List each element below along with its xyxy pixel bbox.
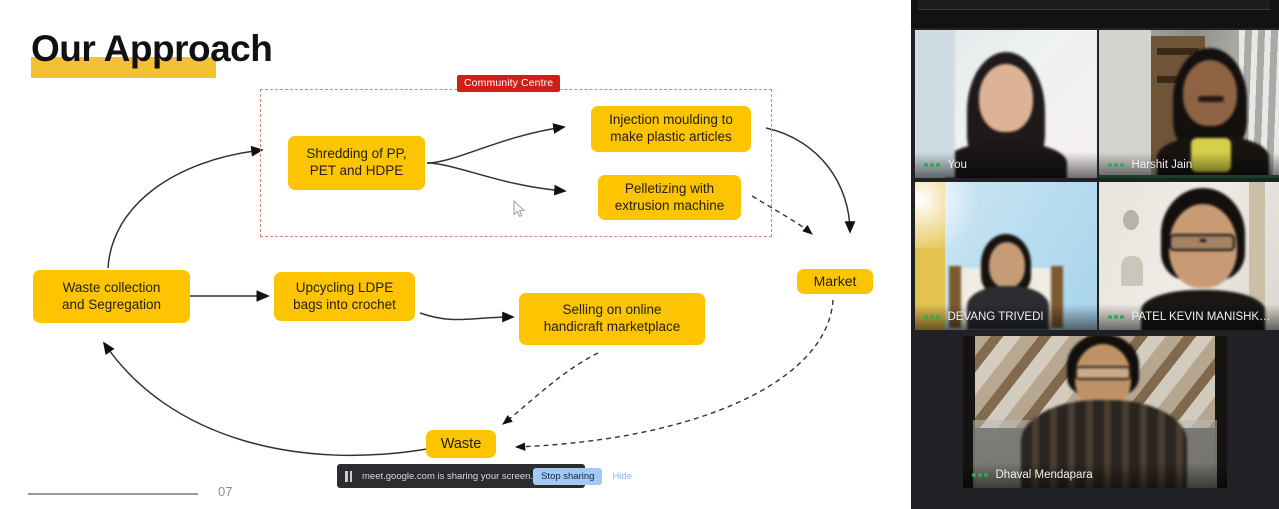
node-waste[interactable]: Waste [426, 430, 496, 458]
mouse-cursor-icon [513, 200, 526, 218]
node-line: and Segregation [62, 297, 161, 314]
node-line: Upcycling LDPE [293, 280, 396, 297]
node-line: extrusion machine [615, 198, 725, 215]
node-shredding[interactable]: Shredding of PP, PET and HDPE [288, 136, 425, 190]
node-line: PET and HDPE [306, 163, 406, 180]
audio-activity-icon [924, 163, 940, 167]
node-upcycling-ldpe[interactable]: Upcycling LDPE bags into crochet [274, 272, 415, 321]
node-line: bags into crochet [293, 297, 396, 314]
participant-namebar: PATEL KEVIN MANISHK… [1099, 304, 1279, 330]
participant-tile-you[interactable]: You [915, 30, 1097, 178]
participant-tile-harshit-jain[interactable]: Harshit Jain [1099, 30, 1279, 178]
participant-tile-dhaval-mendapara[interactable]: Dhaval Mendapara [963, 336, 1227, 488]
meeting-participants-panel: You Harshit Jain [911, 0, 1279, 509]
participant-namebar: You [915, 152, 1097, 178]
node-line: Market [814, 273, 857, 291]
node-line: Injection moulding to [609, 112, 733, 129]
hide-button[interactable]: Hide [612, 471, 632, 482]
screen-share-bar[interactable]: meet.google.com is sharing your screen. … [337, 464, 585, 488]
participant-name: Harshit Jain [1132, 159, 1193, 171]
page-title: Our Approach [31, 30, 272, 67]
node-line: Selling on online [544, 302, 681, 319]
participant-namebar: DEVANG TRIVEDI [915, 304, 1097, 330]
participant-name: You [948, 159, 967, 171]
node-market[interactable]: Market [797, 269, 873, 294]
node-waste-collection[interactable]: Waste collection and Segregation [33, 270, 190, 323]
participant-name: DEVANG TRIVEDI [948, 311, 1044, 323]
participant-tile-devang-trivedi[interactable]: DEVANG TRIVEDI [915, 182, 1097, 330]
audio-activity-icon [1108, 163, 1124, 167]
meet-topbar-strip [918, 0, 1270, 10]
node-selling-online[interactable]: Selling on online handicraft marketplace [519, 293, 705, 345]
node-line: Shredding of PP, [306, 146, 406, 163]
node-pelletizing[interactable]: Pelletizing with extrusion machine [598, 175, 741, 220]
participant-tile-patel-kevin[interactable]: PATEL KEVIN MANISHK… [1099, 182, 1279, 330]
node-line: handicraft marketplace [544, 319, 681, 336]
page-number: 07 [218, 484, 232, 499]
node-line: make plastic articles [609, 129, 733, 146]
audio-activity-icon [924, 315, 940, 319]
node-injection-moulding[interactable]: Injection moulding to make plastic artic… [591, 106, 751, 152]
audio-activity-icon [1108, 315, 1124, 319]
community-centre-label: Community Centre [457, 75, 560, 92]
pause-icon [345, 471, 356, 482]
shared-screen-slide: Our Approach Community Centre [0, 0, 911, 509]
footer-rule [28, 493, 198, 495]
node-line: Pelletizing with [615, 181, 725, 198]
stop-sharing-button[interactable]: Stop sharing [533, 468, 602, 485]
node-line: Waste collection [62, 280, 161, 297]
share-message: meet.google.com is sharing your screen. [362, 471, 533, 482]
participant-name: Dhaval Mendapara [996, 469, 1093, 481]
participant-namebar: Harshit Jain [1099, 152, 1279, 178]
audio-activity-icon [972, 473, 988, 477]
node-line: Waste [441, 435, 482, 453]
participant-name: PATEL KEVIN MANISHK… [1132, 311, 1271, 323]
participant-namebar: Dhaval Mendapara [963, 462, 1227, 488]
